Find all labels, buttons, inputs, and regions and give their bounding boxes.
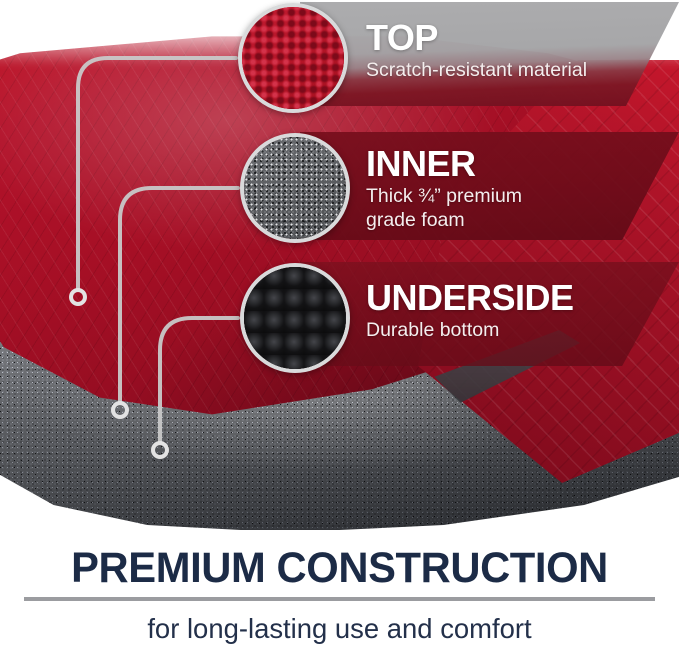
callout-subtitle-inner-line2: grade foam (366, 209, 671, 233)
callout-subtitle-inner: Thick ¾” premium grade foam (366, 185, 671, 233)
headline-divider-rule (24, 597, 655, 601)
headline-block: PREMIUM CONSTRUCTION for long-lasting us… (0, 530, 679, 648)
callout-subtitle-inner-line1: Thick ¾” premium (366, 185, 671, 209)
callout-banner-inner-text: INNER Thick ¾” premium grade foam (366, 146, 671, 233)
callout-title-inner: INNER (366, 146, 671, 182)
callout-banner-top: TOP Scratch-resistant material (300, 2, 679, 106)
red-perforated-texture-swatch (238, 3, 348, 113)
headline-subtitle: for long-lasting use and comfort (7, 615, 672, 643)
red-perforated-texture-fill (242, 7, 344, 109)
callout-subtitle-top: Scratch-resistant material (366, 59, 671, 83)
product-photo: TOP Scratch-resistant material INNER Thi… (0, 0, 679, 530)
black-dimpled-texture-fill (244, 267, 346, 369)
infographic-root: TOP Scratch-resistant material INNER Thi… (0, 0, 679, 648)
black-dimpled-texture-swatch (240, 263, 350, 373)
callout-title-underside: UNDERSIDE (366, 280, 671, 316)
gray-foam-texture-swatch (240, 133, 350, 243)
callout-banner-inner: INNER Thick ¾” premium grade foam (300, 132, 679, 240)
callout-subtitle-underside: Durable bottom (366, 319, 671, 343)
callout-banner-top-text: TOP Scratch-resistant material (366, 20, 671, 83)
callout-banner-underside: UNDERSIDE Durable bottom (300, 262, 679, 366)
callout-title-top: TOP (366, 20, 671, 56)
gray-foam-texture-fill (244, 137, 346, 239)
headline-title: PREMIUM CONSTRUCTION (10, 530, 669, 590)
callout-banner-underside-text: UNDERSIDE Durable bottom (366, 280, 671, 343)
